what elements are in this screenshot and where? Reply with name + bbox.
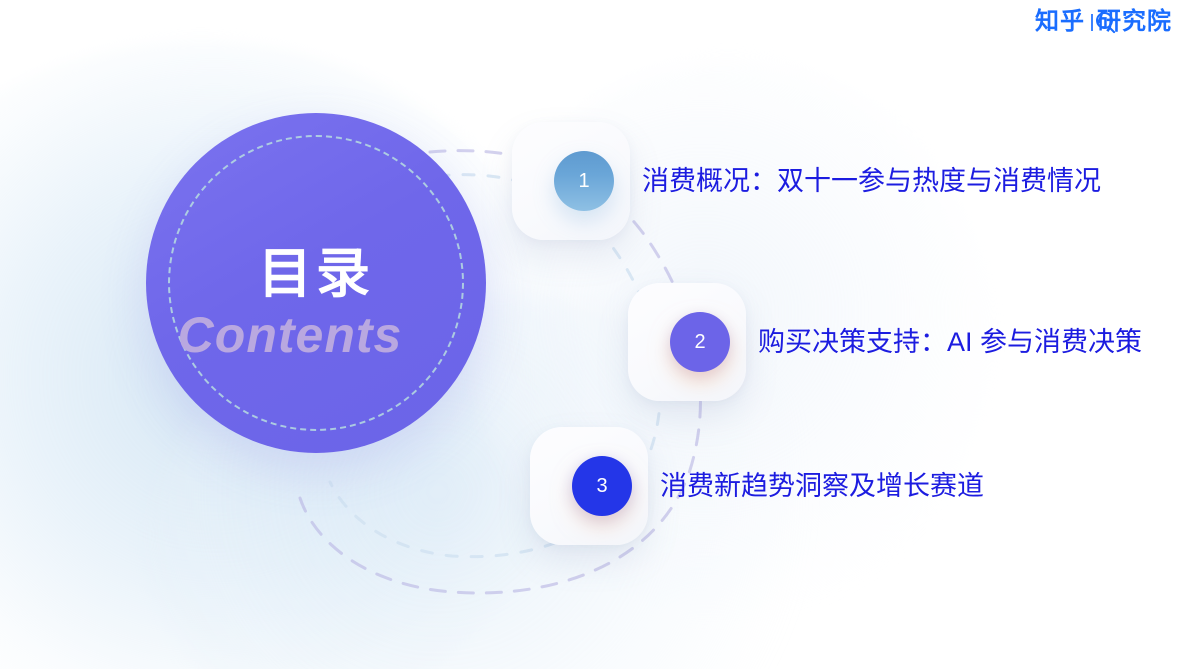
item-card-1[interactable]: 1 — [512, 122, 630, 240]
item-number-badge-3: 3 — [572, 456, 632, 516]
item-card-2[interactable]: 2 — [628, 283, 746, 401]
brand-name-secondary: 研究院 — [1097, 8, 1172, 36]
page-title: 目录 — [146, 243, 486, 305]
contents-item-1[interactable]: 1 消费概况：双十一参与热度与消费情况 — [512, 122, 1101, 240]
item-label-3: 消费新趋势洞察及增长赛道 — [660, 469, 984, 503]
contents-item-3[interactable]: 3 消费新趋势洞察及增长赛道 — [530, 427, 984, 545]
contents-item-2[interactable]: 2 购买决策支持：AI 参与消费决策 — [628, 283, 1142, 401]
brand-name-primary: 知乎 — [1035, 8, 1085, 36]
slide-canvas: 目录 Contents 1 消费概况：双十一参与热度与消费情况 2 购买决策支持… — [0, 0, 1190, 669]
item-card-3[interactable]: 3 — [530, 427, 648, 545]
page-subtitle: Contents — [120, 305, 460, 365]
item-number-badge-2: 2 — [670, 312, 730, 372]
magnifier-icon — [1096, 12, 1113, 29]
item-number-badge-1: 1 — [554, 151, 614, 211]
item-label-1: 消费概况：双十一参与热度与消费情况 — [642, 164, 1101, 198]
brand-divider — [1091, 14, 1093, 31]
brand-logo: 知乎 研究院 — [1035, 8, 1172, 36]
item-label-2: 购买决策支持：AI 参与消费决策 — [758, 325, 1142, 359]
